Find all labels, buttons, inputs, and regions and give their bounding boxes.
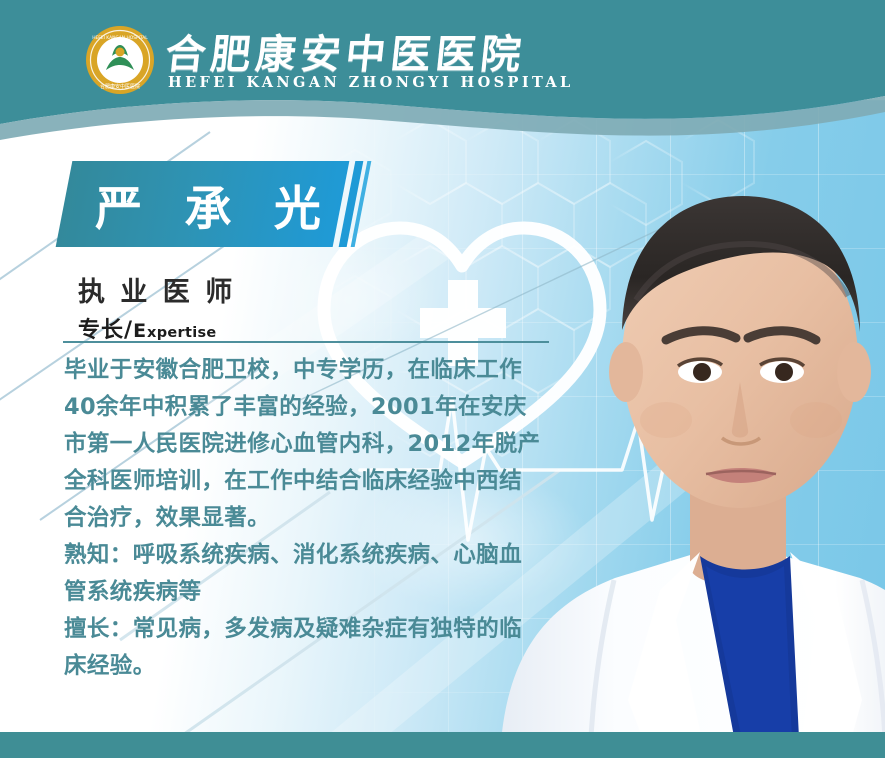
bio-paragraph: 毕业于安徽合肥卫校，中专学历，在临床工作40余年中积累了丰富的经验，2001年在…	[64, 352, 544, 537]
expertise-divider-line	[63, 341, 549, 343]
doctor-bio: 毕业于安徽合肥卫校，中专学历，在临床工作40余年中积累了丰富的经验，2001年在…	[64, 352, 544, 685]
expertise-heading-slash: /	[124, 318, 133, 343]
footer-bar	[0, 732, 885, 758]
doctor-profile-card: HEFEI KANGAN HOSPITAL 合肥康安中医医院 合肥康安中医医院 …	[0, 0, 885, 758]
doctor-name: 严 承 光	[84, 168, 332, 240]
bio-paragraph: 熟知：呼吸系统疾病、消化系统疾病、心脑血管系统疾病等	[64, 537, 544, 611]
expertise-heading: 专长 / E xpertise	[78, 312, 217, 344]
doctor-portrait-photo	[500, 196, 885, 758]
expertise-heading-cn: 专长	[78, 312, 124, 344]
bio-paragraph: 擅长：常见病，多发病及疑难杂症有独特的临床经验。	[64, 611, 544, 685]
hospital-name-en: HEFEI KANGAN ZHONGYI HOSPITAL	[168, 74, 574, 91]
svg-text:合肥康安中医医院: 合肥康安中医医院	[100, 83, 140, 90]
hospital-name-cn: 合肥康安中医医院	[163, 22, 529, 80]
expertise-heading-en-rest: xpertise	[147, 325, 216, 341]
doctor-job-title: 执 业 医 师	[78, 270, 235, 309]
svg-text:HEFEI KANGAN HOSPITAL: HEFEI KANGAN HOSPITAL	[92, 35, 148, 41]
hospital-emblem-icon: HEFEI KANGAN HOSPITAL 合肥康安中医医院	[86, 26, 154, 94]
expertise-heading-en-initial: E	[133, 320, 147, 342]
